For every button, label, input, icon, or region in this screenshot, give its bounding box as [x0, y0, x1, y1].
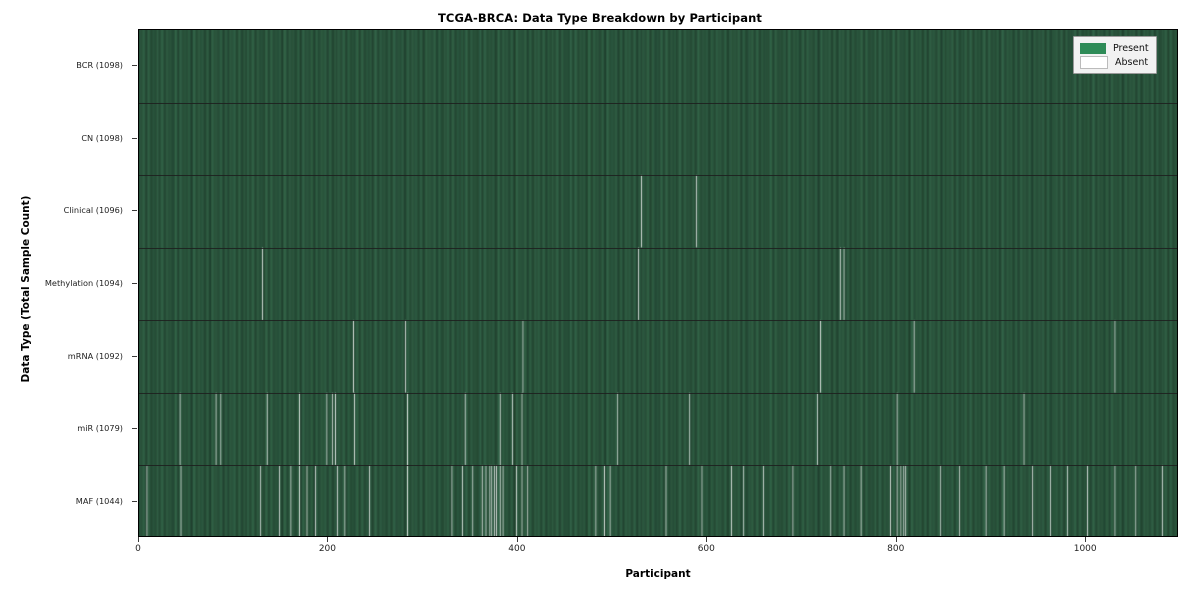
x-tick-label: 800 — [887, 544, 904, 554]
y-tick-mark — [132, 210, 137, 211]
row-separator — [139, 103, 1178, 104]
y-tick-mark — [132, 356, 137, 357]
y-tick-label: CN (1098) — [81, 133, 130, 143]
y-tick-mark — [132, 65, 137, 66]
y-tick-label: miR (1079) — [77, 423, 130, 433]
row-separator — [139, 320, 1178, 321]
legend-label-present: Present — [1113, 43, 1149, 54]
legend-swatch-present-icon — [1080, 43, 1106, 54]
legend-item-absent: Absent — [1080, 55, 1149, 69]
y-tick-mark — [132, 283, 137, 284]
x-tick-mark — [517, 537, 518, 542]
row-separator — [139, 248, 1178, 249]
x-tick-mark — [896, 537, 897, 542]
y-tick-mark — [132, 501, 137, 502]
row-separator — [139, 175, 1178, 176]
x-tick-label: 600 — [698, 544, 715, 554]
heatmap-plot-area — [138, 29, 1178, 537]
page-title: TCGA-BRCA: Data Type Breakdown by Partic… — [0, 11, 1200, 25]
legend-swatch-absent-icon — [1080, 56, 1108, 69]
row-separator — [139, 393, 1178, 394]
y-tick-mark — [132, 428, 137, 429]
x-tick-label: 400 — [508, 544, 525, 554]
y-tick-label: BCR (1098) — [76, 60, 130, 70]
y-axis-ticks: BCR (1098)CN (1098)Clinical (1096)Methyl… — [0, 0, 130, 600]
y-tick-label: Clinical (1096) — [64, 205, 130, 215]
y-tick-label: Methylation (1094) — [45, 278, 130, 288]
x-tick-mark — [706, 537, 707, 542]
x-tick-label: 200 — [319, 544, 336, 554]
x-axis-label: Participant — [138, 568, 1178, 580]
heatmap-image — [139, 30, 1178, 537]
y-tick-mark — [132, 138, 137, 139]
x-tick-mark — [327, 537, 328, 542]
x-tick-label: 0 — [135, 544, 141, 554]
legend-item-present: Present — [1080, 41, 1149, 55]
y-tick-label: MAF (1044) — [76, 496, 130, 506]
x-tick-label: 1000 — [1074, 544, 1097, 554]
row-separator — [139, 465, 1178, 466]
legend-label-absent: Absent — [1115, 57, 1148, 68]
x-tick-mark — [1085, 537, 1086, 542]
legend: Present Absent — [1073, 36, 1157, 74]
y-tick-label: mRNA (1092) — [68, 351, 130, 361]
figure-canvas: TCGA-BRCA: Data Type Breakdown by Partic… — [0, 0, 1200, 600]
x-tick-mark — [138, 537, 139, 542]
